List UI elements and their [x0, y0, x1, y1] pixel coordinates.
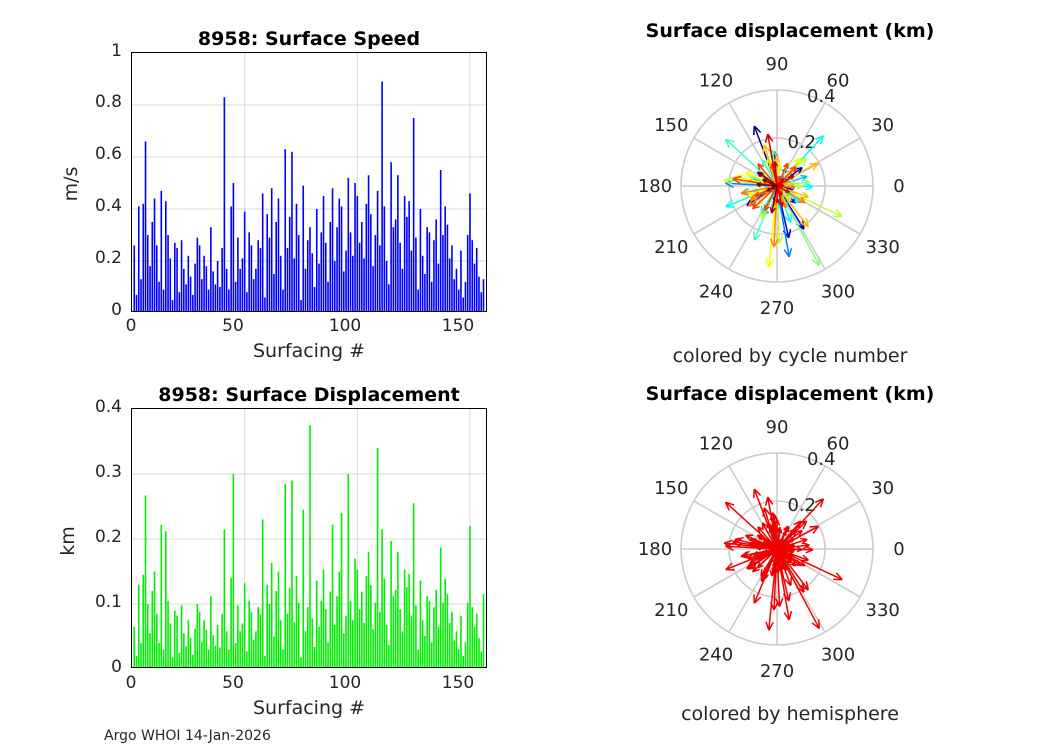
displacement-ytick-0p3: 0.3 — [78, 462, 122, 482]
svg-text:0: 0 — [893, 539, 904, 560]
displacement-ytick-0p4: 0.4 — [78, 397, 122, 417]
svg-text:210: 210 — [654, 600, 688, 621]
svg-text:0.4: 0.4 — [807, 449, 836, 470]
svg-text:300: 300 — [821, 282, 855, 303]
displacement-xtick-150: 150 — [438, 673, 478, 693]
speed-ytick-0p8: 0.8 — [78, 92, 122, 112]
polar-hemisphere-title: Surface displacement (km) — [560, 383, 1020, 405]
figure-footer: Argo WHOI 14-Jan-2026 — [104, 728, 271, 744]
displacement-x-axis-label: Surfacing # — [131, 697, 487, 719]
svg-text:270: 270 — [760, 298, 794, 319]
displacement-y-axis-label: km — [57, 511, 79, 571]
speed-xtick-100: 100 — [325, 316, 365, 336]
displacement-xtick-100: 100 — [325, 673, 365, 693]
polar-hemisphere-caption: colored by hemisphere — [560, 703, 1020, 725]
panel-surface-speed: 8958: Surface Speed m/s Surfacing # 0 0.… — [0, 0, 520, 375]
svg-text:210: 210 — [654, 237, 688, 258]
displacement-xtick-0: 0 — [111, 673, 151, 693]
speed-ytick-0p6: 0.6 — [78, 144, 122, 164]
svg-text:120: 120 — [699, 70, 733, 91]
speed-ytick-0p2: 0.2 — [78, 248, 122, 268]
svg-text:0.2: 0.2 — [787, 132, 816, 153]
svg-text:30: 30 — [871, 478, 894, 499]
svg-text:300: 300 — [821, 645, 855, 666]
svg-text:180: 180 — [638, 539, 672, 560]
displacement-chart-title: 8958: Surface Displacement — [131, 384, 487, 406]
svg-text:150: 150 — [654, 478, 688, 499]
speed-bars-svg — [132, 53, 487, 312]
svg-text:30: 30 — [871, 115, 894, 136]
displacement-bars-svg — [132, 409, 487, 668]
speed-ytick-1: 1 — [78, 41, 122, 61]
svg-text:330: 330 — [866, 237, 900, 258]
speed-chart-title: 8958: Surface Speed — [131, 28, 487, 50]
speed-plot-area — [131, 52, 487, 312]
svg-text:90: 90 — [766, 417, 789, 438]
panel-polar-cycle: Surface displacement (km) 03060901201501… — [530, 0, 1050, 375]
svg-text:0.4: 0.4 — [807, 86, 836, 107]
speed-ytick-0p4: 0.4 — [78, 196, 122, 216]
polar-cycle-title: Surface displacement (km) — [560, 20, 1020, 42]
svg-text:270: 270 — [760, 661, 794, 682]
svg-text:240: 240 — [699, 645, 733, 666]
svg-text:240: 240 — [699, 282, 733, 303]
polar-cycle-plot: 03060901201501802102402703003300.20.4 — [530, 40, 1050, 340]
svg-text:0.2: 0.2 — [787, 495, 816, 516]
displacement-ytick-0p2: 0.2 — [78, 527, 122, 547]
polar-cycle-caption: colored by cycle number — [560, 345, 1020, 367]
displacement-ytick-0p1: 0.1 — [78, 592, 122, 612]
speed-x-axis-label: Surfacing # — [131, 340, 487, 362]
svg-text:330: 330 — [866, 600, 900, 621]
speed-xtick-150: 150 — [438, 316, 478, 336]
panel-surface-displacement: 8958: Surface Displacement km Surfacing … — [0, 375, 520, 750]
displacement-plot-area — [131, 408, 487, 668]
polar-hemisphere-plot: 03060901201501802102402703003300.20.4 — [530, 403, 1050, 703]
displacement-xtick-50: 50 — [213, 673, 253, 693]
speed-xtick-50: 50 — [213, 316, 253, 336]
panel-polar-hemisphere: Surface displacement (km) 03060901201501… — [530, 375, 1050, 750]
svg-text:0: 0 — [893, 176, 904, 197]
svg-text:120: 120 — [699, 433, 733, 454]
svg-text:90: 90 — [766, 54, 789, 75]
svg-text:150: 150 — [654, 115, 688, 136]
svg-text:180: 180 — [638, 176, 672, 197]
speed-xtick-0: 0 — [111, 316, 151, 336]
